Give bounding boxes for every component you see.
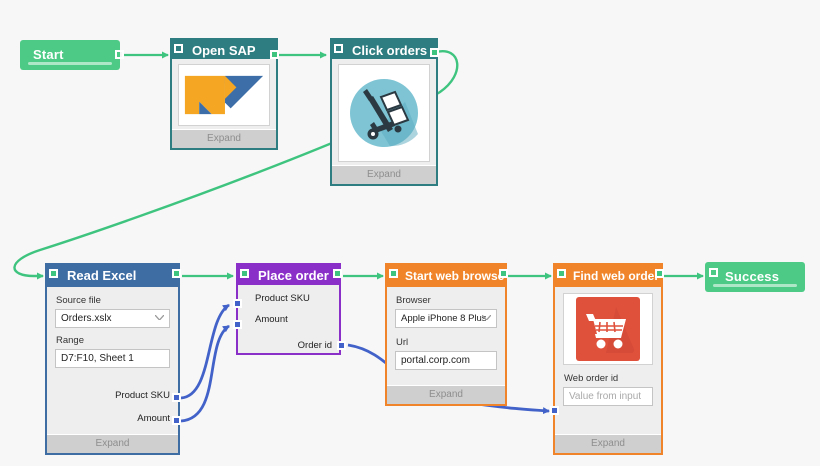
port-success-flow-in[interactable] (709, 268, 718, 277)
node-success[interactable]: Success (705, 262, 805, 292)
read-excel-output-amount: Amount (55, 412, 170, 426)
read-excel-source-file-label: Source file (56, 295, 170, 306)
place-order-output-order-id: Order id (245, 339, 332, 353)
read-excel-output-amount-label: Amount (137, 412, 170, 426)
node-start-web-browser-expand[interactable]: Expand (387, 385, 505, 404)
node-success-title: Success (705, 262, 805, 284)
read-excel-output-product-sku: Product SKU (55, 389, 170, 403)
node-find-web-order-expand[interactable]: Expand (555, 434, 661, 453)
node-place-order-title: Place order (238, 265, 339, 285)
node-click-orders-expand[interactable]: Expand (332, 165, 436, 184)
chevron-down-icon (482, 315, 491, 320)
hand-truck-thumbnail (338, 64, 430, 162)
place-order-input-product-sku: Product SKU (245, 292, 332, 306)
shopping-cart-icon (576, 297, 640, 361)
port-read-excel-flow-in[interactable] (49, 269, 58, 278)
place-order-output-order-id-label: Order id (298, 339, 332, 353)
node-start[interactable]: Start (20, 40, 120, 70)
browser-value: Apple iPhone 8 Plus (401, 313, 487, 324)
port-find-web-order-flow-in[interactable] (557, 269, 566, 278)
browser-label: Browser (396, 295, 497, 306)
web-order-id-label: Web order id (564, 373, 653, 384)
node-open-sap[interactable]: Open SAP Expand (170, 38, 278, 150)
edge-amount-data (181, 326, 229, 421)
port-click-orders-flow-in[interactable] (334, 44, 343, 53)
port-place-order-flow-out[interactable] (333, 269, 342, 278)
node-start-web-browser-title: Start web browser (387, 265, 505, 287)
port-start-web-browser-flow-out[interactable] (499, 269, 508, 278)
port-find-web-order-in-web-order-id[interactable] (550, 406, 559, 415)
port-start-flow-out[interactable] (115, 50, 124, 59)
sap-logo-thumbnail (178, 64, 270, 126)
node-read-excel-expand[interactable]: Expand (47, 434, 178, 453)
sap-logo-icon (183, 71, 265, 119)
node-find-web-order[interactable]: Find web order (553, 263, 663, 455)
place-order-input-product-sku-label: Product SKU (255, 292, 310, 306)
read-excel-output-product-sku-label: Product SKU (115, 389, 170, 403)
chevron-down-icon (155, 315, 164, 320)
url-value: portal.corp.com (401, 355, 470, 366)
node-open-sap-expand[interactable]: Expand (172, 129, 276, 148)
shopping-cart-thumbnail (563, 293, 653, 365)
port-place-order-flow-in[interactable] (240, 269, 249, 278)
read-excel-source-file-select[interactable]: Orders.xslx (55, 309, 170, 328)
port-start-web-browser-flow-in[interactable] (389, 269, 398, 278)
place-order-input-amount: Amount (245, 313, 332, 327)
web-order-id-placeholder: Value from input (569, 391, 641, 402)
port-click-orders-flow-out[interactable] (430, 48, 439, 57)
node-start-underline (28, 62, 112, 65)
node-read-excel-title: Read Excel (47, 265, 178, 287)
port-read-excel-out-product-sku[interactable] (172, 393, 181, 402)
node-place-order[interactable]: Place order Product SKU Amount Order id (236, 263, 341, 355)
read-excel-range-label: Range (56, 335, 170, 346)
port-place-order-out-order-id[interactable] (337, 341, 346, 350)
url-label: Url (396, 337, 497, 348)
node-find-web-order-title: Find web order (555, 265, 661, 287)
port-open-sap-flow-in[interactable] (174, 44, 183, 53)
workflow-canvas[interactable]: Start Open SAP Expand Click orders (0, 0, 820, 466)
port-read-excel-flow-out[interactable] (172, 269, 181, 278)
edge-product-sku-data (181, 305, 229, 398)
place-order-input-amount-label: Amount (255, 313, 288, 327)
port-find-web-order-flow-out[interactable] (655, 269, 664, 278)
node-read-excel[interactable]: Read Excel Source file Orders.xslx Range… (45, 263, 180, 455)
port-place-order-in-amount[interactable] (233, 320, 242, 329)
read-excel-range-input[interactable]: D7:F10, Sheet 1 (55, 349, 170, 368)
node-success-underline (713, 284, 797, 287)
node-start-title: Start (20, 40, 120, 62)
read-excel-source-file-value: Orders.xslx (61, 313, 112, 324)
node-open-sap-title: Open SAP (172, 40, 276, 59)
port-place-order-in-product-sku[interactable] (233, 299, 242, 308)
node-click-orders-title: Click orders (332, 40, 436, 59)
read-excel-range-value: D7:F10, Sheet 1 (61, 353, 134, 364)
browser-select[interactable]: Apple iPhone 8 Plus (395, 309, 497, 328)
node-click-orders[interactable]: Click orders (330, 38, 438, 186)
port-open-sap-flow-out[interactable] (270, 50, 279, 59)
hand-truck-icon (343, 72, 425, 154)
web-order-id-input[interactable]: Value from input (563, 387, 653, 406)
node-start-web-browser[interactable]: Start web browser Browser Apple iPhone 8… (385, 263, 507, 406)
url-input[interactable]: portal.corp.com (395, 351, 497, 370)
port-read-excel-out-amount[interactable] (172, 416, 181, 425)
